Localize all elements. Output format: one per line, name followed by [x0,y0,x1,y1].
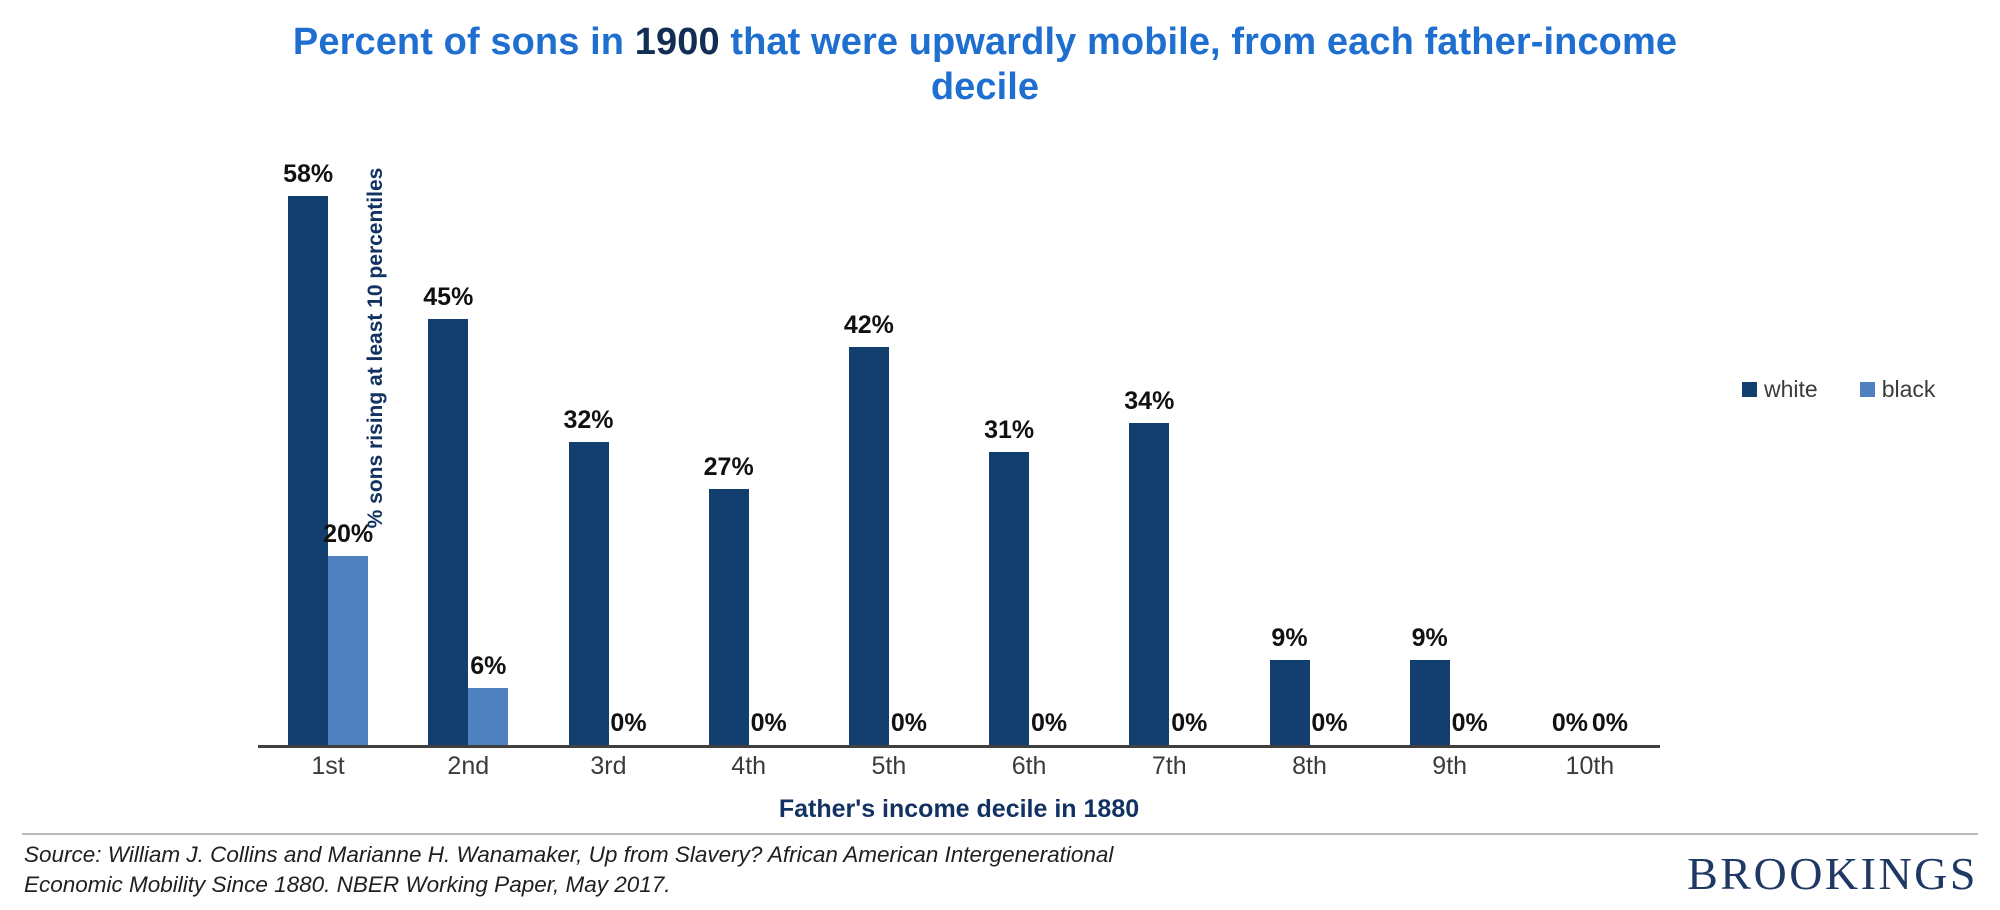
bar-label-white-9th: 9% [1395,624,1465,653]
x-tick-9th: 9th [1380,752,1520,781]
bar-white-4th[interactable] [709,489,749,745]
bar-white-3rd[interactable] [569,442,609,745]
bar-white-6th[interactable] [989,452,1029,746]
title-accent-year: 1900 [635,21,720,63]
bar-black-1st[interactable] [328,556,368,745]
footer-divider [22,833,1978,835]
bar-label-black-5th: 0% [874,709,944,738]
legend-swatch-icon-black [1860,382,1875,397]
bar-label-black-2nd: 6% [453,652,523,681]
x-tick-7th: 7th [1099,752,1239,781]
bar-white-5th[interactable] [849,347,889,745]
brookings-logo: BROOKINGS [1687,847,1978,900]
x-tick-10th: 10th [1520,752,1660,781]
page-title: Percent of sons in 1900 that were upward… [250,20,1720,110]
legend-item-white[interactable]: white [1742,376,1818,403]
bar-label-black-8th: 0% [1295,709,1365,738]
bar-label-white-1st: 58% [273,160,343,189]
bar-label-white-2nd: 45% [413,283,483,312]
legend-label-black: black [1882,376,1936,403]
bar-label-black-7th: 0% [1154,709,1224,738]
bar-label-white-3rd: 32% [554,406,624,435]
bar-label-white-7th: 34% [1114,387,1184,416]
bar-white-7th[interactable] [1129,423,1169,745]
x-tick-2nd: 2nd [398,752,538,781]
x-tick-5th: 5th [819,752,959,781]
legend-label-white: white [1764,376,1818,403]
x-tick-8th: 8th [1239,752,1379,781]
x-tick-6th: 6th [959,752,1099,781]
bar-label-white-6th: 31% [974,416,1044,445]
bar-label-black-6th: 0% [1014,709,1084,738]
bar-label-white-4th: 27% [694,453,764,482]
x-tick-4th: 4th [679,752,819,781]
bar-label-black-4th: 0% [734,709,804,738]
legend: white black [1742,376,1935,403]
bar-label-black-9th: 0% [1435,709,1505,738]
bar-label-black-1st: 20% [313,520,383,549]
bar-label-black-10th: 0% [1575,709,1645,738]
source-line-2: Economic Mobility Since 1880. NBER Worki… [24,870,1274,900]
x-tick-3rd: 3rd [538,752,678,781]
title-part1: Percent of sons in [293,21,635,63]
x-tick-1st: 1st [258,752,398,781]
y-axis-title: % sons rising at least 10 percentiles [364,138,394,558]
bar-label-black-3rd: 0% [594,709,664,738]
legend-swatch-icon-white [1742,382,1757,397]
x-axis-title: Father's income decile in 1880 [258,795,1660,824]
source-line-1: Source: William J. Collins and Marianne … [24,840,1274,870]
title-part2: that were upwardly mobile, from each fat… [720,21,1677,108]
bar-label-white-5th: 42% [834,311,904,340]
chart-page: { "title": { "part1": "Percent of sons i… [0,0,2000,910]
source-note: Source: William J. Collins and Marianne … [24,840,1274,900]
legend-item-black[interactable]: black [1860,376,1936,403]
bar-white-1st[interactable] [288,196,328,745]
x-axis-line [258,745,1660,748]
bar-label-white-8th: 9% [1255,624,1325,653]
bar-black-2nd[interactable] [468,688,508,745]
